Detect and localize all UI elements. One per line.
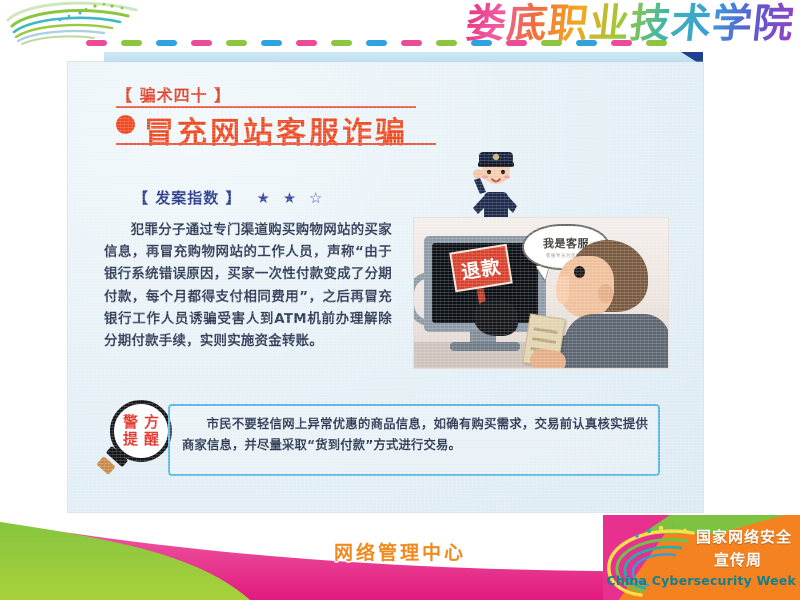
header-dash <box>331 40 352 46</box>
police-reminder-text: 警 方 提 醒 <box>118 414 164 448</box>
red-dot-bullet-icon <box>116 115 135 134</box>
incidence-index-label: 【 发案指数 】 <box>133 189 241 207</box>
header-dash <box>191 40 212 46</box>
police-tip-box: 市民不要轻信网上异常优惠的商品信息，如确有购买需求，交易前认真核实提供商家信息，… <box>168 404 660 476</box>
person-ear <box>598 284 613 303</box>
trick-number-label: 【 骗术四十 】 <box>116 82 231 106</box>
badge-char-1: 警 <box>120 414 141 431</box>
badge-char-2: 方 <box>141 414 162 431</box>
school-title: 娄底职业技术学院 <box>463 0 797 52</box>
person-eye <box>574 266 585 278</box>
header-dash <box>226 40 247 46</box>
scanned-page-panel: 【 骗术四十 】 冒充网站客服诈骗 <box>68 62 703 512</box>
header-dash <box>156 40 177 46</box>
incidence-index-stars: ★ ★ ☆ <box>257 189 327 207</box>
badge-char-4: 醒 <box>141 431 162 448</box>
header-dash <box>366 40 387 46</box>
header-dash <box>296 40 317 46</box>
slide-footer: 网络管理中心 国家网络安全 <box>0 512 800 600</box>
slide-header: 娄底职业技术学院 娄底职业技术学院 <box>0 0 800 58</box>
police-tip-text: 市民不要轻信网上异常优惠的商品信息，如确有购买需求，交易前认真核实提供商家信息，… <box>182 414 648 455</box>
person-nose <box>556 276 569 304</box>
title-rule-bottom <box>116 143 436 145</box>
magnifying-glass-icon: 警 方 提 醒 <box>110 400 172 462</box>
slide-root: 娄底职业技术学院 娄底职业技术学院 【 骗术四十 】 冒充网站客服诈骗 <box>0 0 800 600</box>
cw-title-line1: 国家网络安全 <box>696 526 792 547</box>
header-dash <box>261 40 282 46</box>
cw-title-line2: 宣传周 <box>714 549 762 570</box>
cw-title-english: China Cybersecurity Week <box>606 573 796 588</box>
page-title: 冒充网站客服诈骗 <box>144 108 408 152</box>
police-reminder-badge: 警 方 提 醒 <box>104 400 178 478</box>
header-dash <box>436 40 457 46</box>
monitor-base <box>450 342 520 351</box>
cybersecurity-week-logo: 国家网络安全 宣传周 China Cybersecurity Week <box>603 515 800 600</box>
description-paragraph: 犯罪分子通过专门渠道购买购物网站的买家信息，再冒充购物网站的工作人员，声称“由于… <box>104 220 392 353</box>
reaching-hand-silhouette <box>474 300 518 336</box>
badge-char-3: 提 <box>120 431 141 448</box>
header-dash <box>401 40 422 46</box>
incidence-index-row: 【 发案指数 】 ★ ★ ☆ <box>133 187 326 208</box>
header-dash <box>121 40 142 46</box>
header-dash <box>86 40 107 46</box>
fake-customer-service-illustration: 退款 我是客服 客服专员为您服务 <box>413 217 669 369</box>
